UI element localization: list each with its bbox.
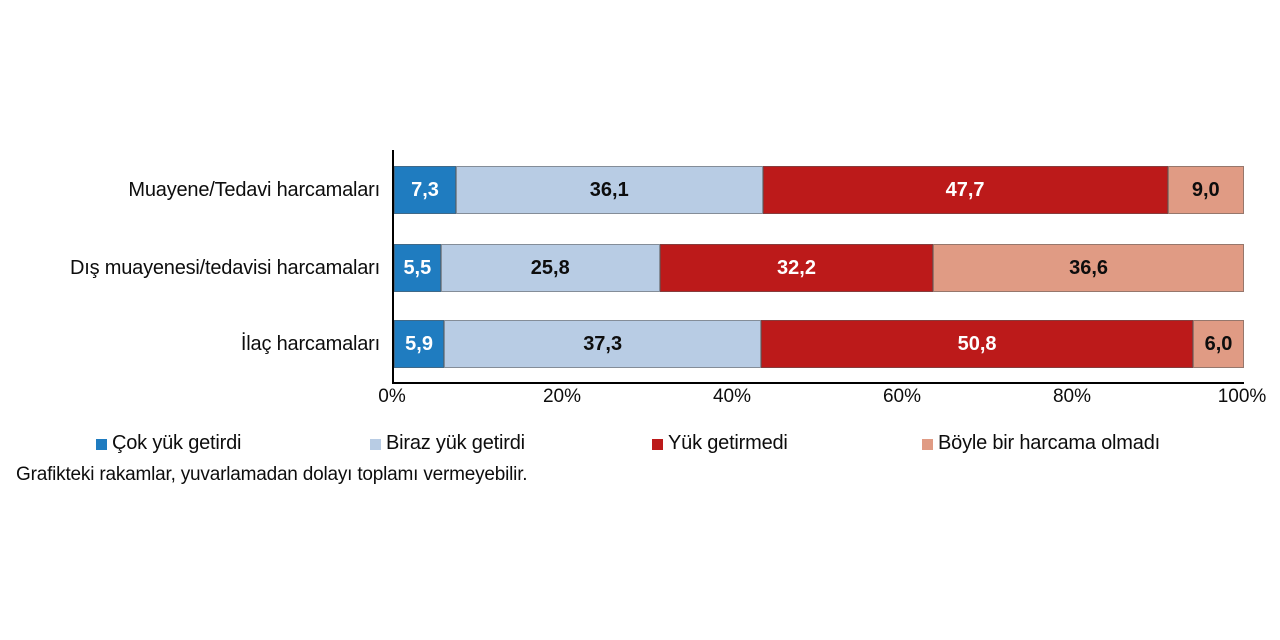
bar-segment: 6,0 [1193,320,1244,368]
bar-value-label: 47,7 [946,180,985,200]
legend-label: Böyle bir harcama olmadı [938,432,1160,454]
bar-value-label: 37,3 [583,334,622,354]
bar-row: 7,336,147,79,0 [394,166,1244,214]
category-axis-labels: Muayene/Tedavi harcamalarıDış muayenesi/… [0,150,380,382]
legend-item[interactable]: Biraz yük getirdi [370,432,525,454]
bar-value-label: 50,8 [958,334,997,354]
bar-segment: 36,6 [933,244,1244,292]
bar-segment: 32,2 [660,244,933,292]
bar-segment: 47,7 [763,166,1168,214]
bar-segment: 25,8 [441,244,660,292]
category-label: Muayene/Tedavi harcamaları [0,180,380,200]
bar-segment: 9,0 [1168,166,1244,214]
legend-swatch-icon [922,439,933,450]
bar-segment: 37,3 [444,320,761,368]
category-label: İlaç harcamaları [0,334,380,354]
x-axis-tick-label: 100% [1218,386,1267,408]
bar-row: 5,937,350,86,0 [394,320,1244,368]
bar-value-label: 32,2 [777,258,816,278]
bar-value-label: 6,0 [1205,334,1233,354]
legend-item[interactable]: Yük getirmedi [652,432,788,454]
x-axis-tick-label: 80% [1053,386,1091,408]
bar-value-label: 5,9 [405,334,433,354]
chart-legend: Çok yük getirdiBiraz yük getirdiYük geti… [0,432,1280,460]
x-axis-tick-label: 0% [378,386,405,408]
bar-segment: 36,1 [456,166,763,214]
plot-area: Muayene/Tedavi harcamalarıDış muayenesi/… [0,150,1280,390]
bar-segment: 5,9 [394,320,444,368]
x-axis-tick-label: 40% [713,386,751,408]
bar-value-label: 25,8 [531,258,570,278]
bar-value-label: 36,1 [590,180,629,200]
x-axis-tick-label: 60% [883,386,921,408]
legend-item[interactable]: Çok yük getirdi [96,432,241,454]
legend-swatch-icon [652,439,663,450]
x-axis-ticks: 0%20%40%60%80%100% [392,386,1242,412]
legend-swatch-icon [96,439,107,450]
bar-value-label: 36,6 [1069,258,1108,278]
stacked-bar-chart: Muayene/Tedavi harcamalarıDış muayenesi/… [0,0,1280,640]
bar-segment: 7,3 [394,166,456,214]
bar-value-label: 5,5 [403,258,431,278]
bar-value-label: 7,3 [411,180,439,200]
category-label: Dış muayenesi/tedavisi harcamaları [0,258,380,278]
bar-segment: 50,8 [761,320,1193,368]
bars-area: 7,336,147,79,05,525,832,236,65,937,350,8… [392,150,1244,384]
legend-swatch-icon [370,439,381,450]
legend-label: Biraz yük getirdi [386,432,525,454]
bar-value-label: 9,0 [1192,180,1220,200]
bar-segment: 5,5 [394,244,441,292]
chart-footnote: Grafikteki rakamlar, yuvarlamadan dolayı… [16,464,527,486]
legend-label: Çok yük getirdi [112,432,241,454]
legend-label: Yük getirmedi [668,432,788,454]
x-axis-tick-label: 20% [543,386,581,408]
bar-row: 5,525,832,236,6 [394,244,1244,292]
legend-item[interactable]: Böyle bir harcama olmadı [922,432,1160,454]
